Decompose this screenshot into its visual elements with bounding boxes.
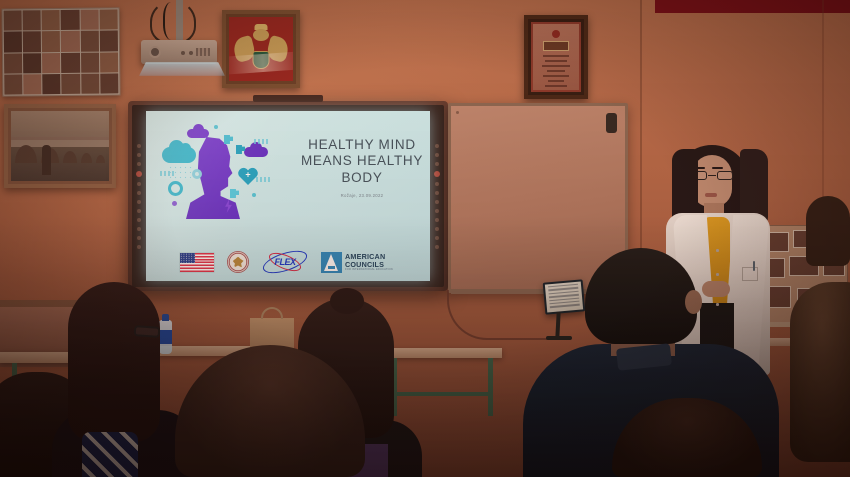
presenter-eyebrow (712, 167, 723, 169)
collage-photo (43, 74, 61, 94)
heart-with-cross-icon: + (238, 167, 258, 185)
puzzle-piece-icon (230, 189, 239, 198)
american-councils-wordmark: AMERICAN COUNCILS FOR INTERNATIONAL EDUC… (345, 253, 393, 272)
slide-subtitle: Rožaje, 23.09.2022 (286, 193, 430, 198)
power-cable (447, 290, 557, 340)
iwb-toolbar-button[interactable] (435, 144, 439, 148)
iwb-toolbar-button[interactable] (435, 218, 439, 222)
collage-photo (62, 74, 80, 94)
framed-bridge-photograph (4, 104, 116, 188)
certificate-text-line (547, 70, 566, 72)
certificate-text-line (543, 55, 570, 57)
desk-crossbar (394, 392, 490, 396)
student-hair (175, 345, 365, 477)
glass-glare (229, 51, 293, 75)
projector-cable (163, 2, 183, 40)
glasses-lens (717, 171, 733, 180)
projector-button[interactable] (189, 51, 193, 55)
ring-icon (168, 181, 183, 196)
american-councils-mark-icon (321, 252, 342, 273)
iwb-power-button[interactable] (136, 171, 142, 177)
attendee-hair (806, 196, 850, 266)
iwb-toolbar-button[interactable] (435, 209, 439, 213)
slide-logo-row: FLEX AMERICAN COUNCILS FOR INTERNATIONAL… (180, 249, 430, 275)
wave-icon (254, 139, 270, 144)
slide-title-line: BODY (286, 170, 430, 186)
photo-sky (11, 111, 109, 137)
cloud-icon (187, 129, 209, 138)
photo-collage-board (2, 7, 121, 96)
student-hair (68, 282, 160, 442)
attendee-background-right (806, 196, 850, 266)
iwb-toolbar-button[interactable] (137, 162, 141, 166)
collage-photo (100, 52, 118, 72)
iwb-toolbar-button[interactable] (137, 209, 141, 213)
collage-photo (100, 31, 118, 51)
wave-icon (160, 171, 176, 176)
iwb-toolbar-button[interactable] (435, 200, 439, 204)
collage-photo (80, 10, 98, 30)
seal-eagle-icon (233, 257, 244, 268)
collage-photo (42, 31, 60, 51)
collage-photo (23, 74, 41, 94)
collage-photo (42, 53, 60, 73)
iwb-left-toolbar[interactable] (132, 105, 146, 287)
iwb-toolbar-button[interactable] (137, 227, 141, 231)
certificate-text-line (548, 80, 564, 82)
certificate-paper (531, 22, 581, 92)
attendee-hair (790, 282, 850, 462)
collage-photo (23, 10, 41, 30)
slide-illustration: + (152, 119, 280, 231)
whiteboard-peg (456, 111, 459, 114)
wall-speaker-icon (606, 113, 617, 133)
american-councils-tagline: FOR INTERNATIONAL EDUCATION (345, 268, 393, 271)
iwb-toolbar-button[interactable] (137, 191, 141, 195)
certificate-seal-icon (552, 30, 560, 38)
iwb-toolbar-button[interactable] (137, 144, 141, 148)
attendee-curly-hair (790, 282, 850, 477)
flex-program-logo: FLEX (262, 251, 308, 273)
flex-logo-text: FLEX (274, 257, 295, 267)
projector-button[interactable] (181, 51, 185, 55)
collage-photo (4, 10, 22, 30)
coat-of-arms-field (229, 17, 293, 81)
iwb-right-toolbar[interactable] (430, 105, 444, 287)
wave-icon (256, 177, 272, 182)
us-state-department-seal-logo (227, 251, 249, 273)
student-long-dark-hair-glasses (60, 282, 180, 477)
photo-person (42, 145, 51, 175)
student-light-brown-hair (175, 345, 365, 477)
classroom-presentation-photo: + HEALTHY MIND MEANS HEALTHY BODY (0, 0, 850, 477)
iwb-toolbar-button[interactable] (137, 245, 141, 249)
iwb-toolbar-button[interactable] (435, 182, 439, 186)
collage-photo (42, 10, 60, 30)
slide-title-line: MEANS HEALTHY (286, 153, 430, 169)
montenegro-coat-of-arms-frame (222, 10, 300, 88)
ring-icon (192, 169, 202, 179)
puzzle-piece-icon (224, 135, 233, 144)
dot-decoration (172, 201, 177, 206)
collage-photo (100, 73, 118, 93)
eagle-head (253, 29, 269, 41)
iwb-toolbar-button[interactable] (435, 162, 439, 166)
slide-title: HEALTHY MIND MEANS HEALTHY BODY (286, 137, 430, 186)
hair-bun (330, 288, 364, 314)
us-flag-logo (180, 253, 214, 272)
collage-photo (4, 53, 22, 73)
iwb-toolbar-button[interactable] (137, 236, 141, 240)
collage-photo (23, 53, 41, 73)
cloud-icon (162, 147, 196, 163)
iwb-toolbar-button[interactable] (137, 218, 141, 222)
projector-light-beam (139, 62, 225, 76)
attendee-foreground-center (612, 398, 762, 477)
flag-canton (180, 253, 195, 263)
projector-lens-icon (149, 46, 161, 58)
collage-photo (61, 31, 79, 51)
iwb-power-button[interactable] (434, 171, 440, 177)
cloud-icon (244, 147, 268, 157)
projector-vent (196, 48, 210, 56)
attendee-hair (612, 398, 762, 477)
presenter-face (692, 155, 732, 207)
iwb-toolbar-button[interactable] (435, 245, 439, 249)
collage-photo (61, 52, 79, 72)
framed-certificate (524, 15, 588, 99)
collage-photo (23, 31, 41, 51)
presenter-mouth (705, 193, 717, 197)
iwb-toolbar-button[interactable] (137, 153, 141, 157)
attendee-ear (685, 290, 702, 314)
glasses-bridge (708, 175, 716, 176)
top-red-banner (655, 0, 850, 13)
collage-photo (80, 31, 98, 51)
collage-photo (4, 74, 22, 94)
certificate-text-line (542, 65, 571, 67)
collage-photo (99, 9, 117, 29)
iwb-toolbar-button[interactable] (435, 191, 439, 195)
wall-seam (640, 0, 642, 250)
collage-photo (61, 10, 79, 30)
dot-decoration (252, 193, 256, 197)
certificate-text-line (543, 75, 568, 77)
ceiling-projector (141, 40, 217, 64)
bridge-photo-image (11, 111, 109, 181)
collage-photo (81, 52, 99, 72)
slide-title-line: HEALTHY MIND (286, 137, 430, 153)
attendee-hair (585, 248, 697, 344)
presentation-slide: + HEALTHY MIND MEANS HEALTHY BODY (146, 111, 430, 281)
interactive-whiteboard[interactable]: + HEALTHY MIND MEANS HEALTHY BODY (128, 101, 448, 291)
patterned-scarf (82, 432, 138, 477)
american-councils-logo: AMERICAN COUNCILS FOR INTERNATIONAL EDUC… (321, 252, 393, 273)
collage-photo (81, 73, 99, 93)
certificate-text-line (545, 85, 567, 87)
wall-seam (822, 0, 824, 220)
iwb-toolbar-button[interactable] (435, 227, 439, 231)
iwb-toolbar-button[interactable] (137, 200, 141, 204)
certificate-text-line (545, 60, 567, 62)
eyeglasses-icon (134, 325, 161, 338)
desk-leg (488, 358, 493, 416)
collage-photo (4, 32, 22, 52)
iwb-toolbar-button[interactable] (435, 236, 439, 240)
iwb-bezel: + HEALTHY MIND MEANS HEALTHY BODY (132, 105, 444, 287)
iwb-toolbar-button[interactable] (435, 153, 439, 157)
certificate-badge (543, 41, 569, 51)
dot-decoration (214, 125, 218, 129)
iwb-toolbar-button[interactable] (137, 182, 141, 186)
iwb-top-bezel (253, 95, 323, 102)
